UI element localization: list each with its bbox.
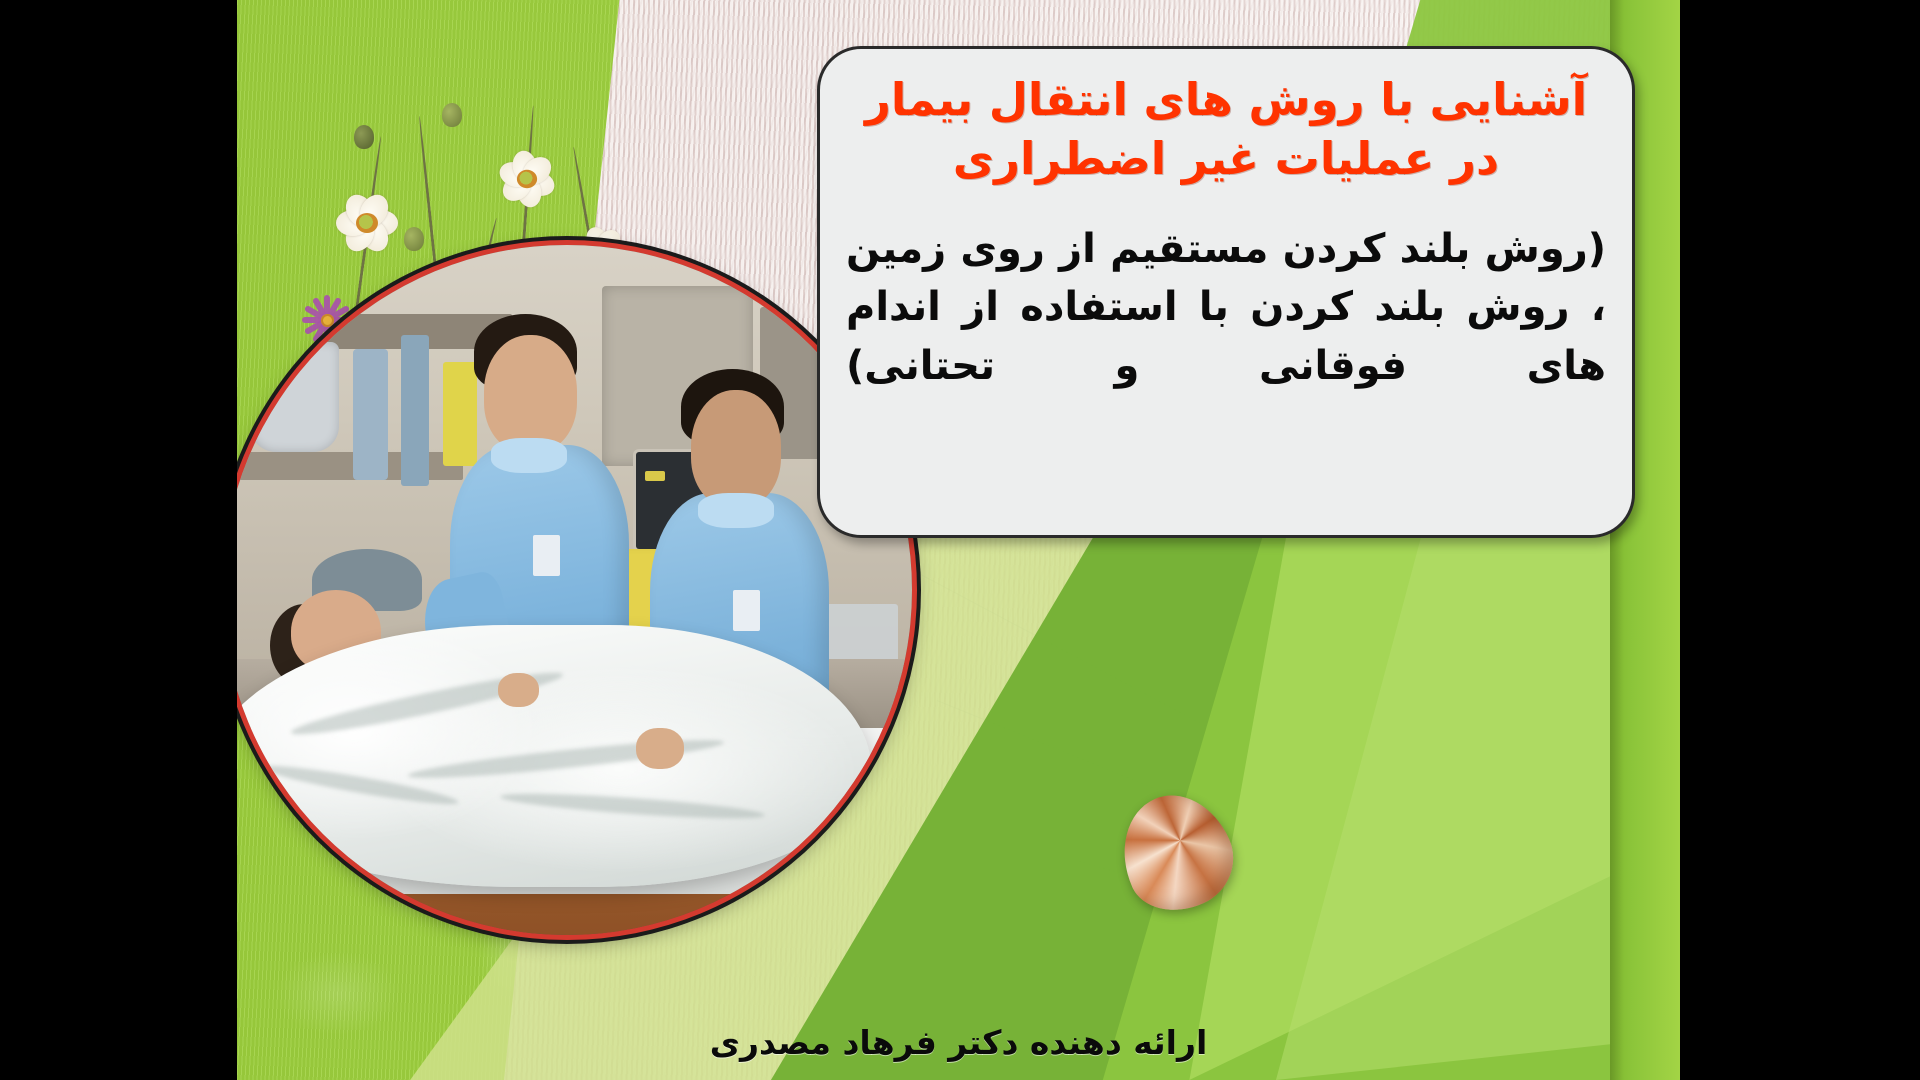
wallpaper-hairline xyxy=(937,700,1680,1038)
page-title: آشنایی با روش های انتقال بیمار در عملیات… xyxy=(846,71,1606,188)
slide-canvas: آشنایی با روش های انتقال بیمار در عملیات… xyxy=(237,0,1680,1080)
subtitle-text: (روش بلند کردن مستقیم از روی زمین ، روش … xyxy=(846,220,1606,395)
letterbox-bar-left xyxy=(0,0,237,1080)
wallpaper-hairline xyxy=(857,540,1680,1001)
content-card: آشنایی با روش های انتقال بیمار در عملیات… xyxy=(817,46,1635,538)
seashell-icon xyxy=(1103,778,1248,927)
letterbox-bar-right xyxy=(1680,0,1920,1080)
slide-stage: آشنایی با روش های انتقال بیمار در عملیات… xyxy=(0,0,1920,1080)
presenter-credit: ارائه دهنده دکتر فرهاد مصدری xyxy=(237,1023,1680,1062)
patient-transfer-photo xyxy=(237,245,912,935)
